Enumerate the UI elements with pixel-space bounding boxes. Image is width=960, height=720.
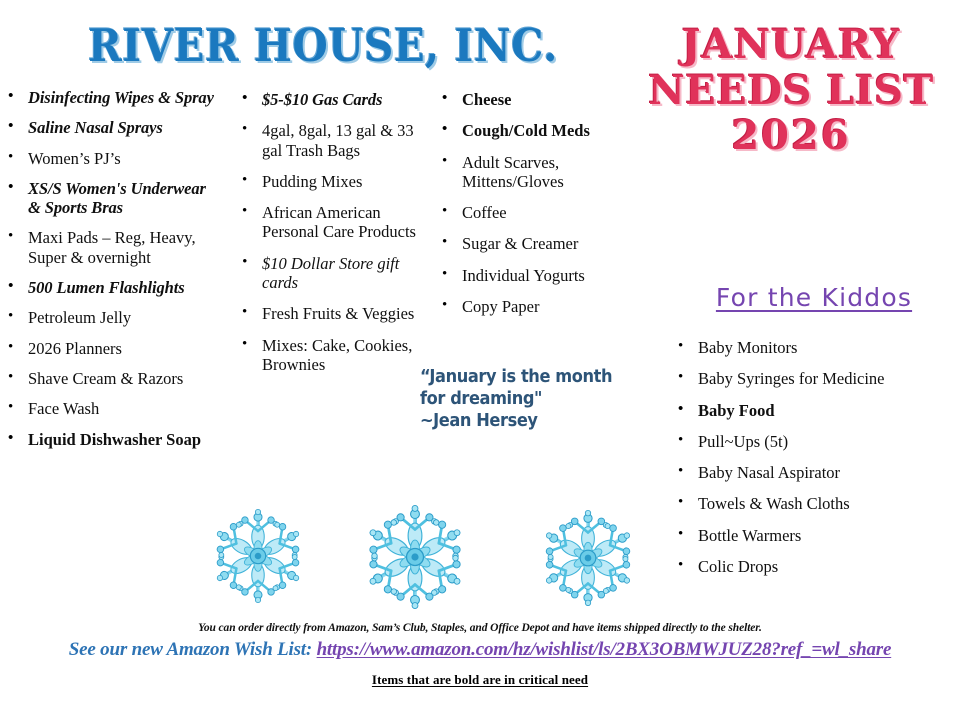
snowflake-icon-center [362,502,468,612]
wishlist-label: See our new Amazon Wish List: [69,639,312,660]
list-item: Cheese [438,90,623,109]
list-item: Pudding Mixes [236,172,421,191]
list-item: 500 Lumen Flashlights [6,278,222,297]
list-item: $10 Dollar Store gift cards [236,254,421,293]
needs-column-three: CheeseCough/Cold MedsAdult Scarves, Mitt… [438,90,623,328]
needs-list-three: CheeseCough/Cold MedsAdult Scarves, Mitt… [438,90,623,316]
list-item: Petroleum Jelly [6,308,222,327]
amazon-wishlist-link[interactable]: https://www.amazon.com/hz/wishlist/ls/2B… [317,639,892,660]
page-title-organization: River House, Inc. [28,22,618,69]
inspirational-quote: “January is the month for dreaming" ~Jea… [420,366,638,432]
needs-list-two: $5-$10 Gas Cards4gal, 8gal, 13 gal & 33 … [236,90,421,374]
list-item: Bottle Warmers [672,526,960,545]
list-item: Sugar & Creamer [438,234,623,253]
footer-wishlist-line: See our new Amazon Wish List: https://ww… [0,639,960,661]
list-item: Baby Nasal Aspirator [672,463,960,482]
snowflake-icon-right [539,508,637,608]
list-item: Face Wash [6,399,222,418]
list-item: $5-$10 Gas Cards [236,90,421,109]
list-item: Towels & Wash Cloths [672,494,960,513]
footer: You can order directly from Amazon, Sam’… [0,622,960,688]
needs-list-title-label: Needs List [622,68,960,114]
list-item: Copy Paper [438,297,623,316]
list-item: Mixes: Cake, Cookies, Brownies [236,336,421,375]
list-item: Colic Drops [672,557,960,576]
needs-list-one: Disinfecting Wipes & SpraySaline Nasal S… [6,88,222,449]
quote-line-2: for dreaming" [420,388,638,410]
list-item: Adult Scarves, Mittens/Gloves [438,153,623,192]
list-item: Disinfecting Wipes & Spray [6,88,222,107]
list-item: African American Personal Care Products [236,203,421,242]
footer-ordering-note: You can order directly from Amazon, Sam’… [0,622,960,634]
snowflake-icon-left [210,506,306,606]
needs-column-kiddos: Baby MonitorsBaby Syringes for MedicineB… [672,338,960,588]
list-item: Cough/Cold Meds [438,121,623,140]
list-item: 4gal, 8gal, 13 gal & 33 gal Trash Bags [236,121,421,160]
list-item: Baby Food [672,401,960,420]
needs-list-title-month: January [622,22,960,68]
list-item: XS/S Women's Underwear & Sports Bras [6,179,222,218]
page-title-needs-list: January Needs List 2026 [622,22,960,159]
section-header-for-the-kiddos: For the Kiddos [668,283,960,312]
quote-line-1: “January is the month [420,366,638,388]
list-item: Individual Yogurts [438,266,623,285]
list-item: Coffee [438,203,623,222]
needs-list-kiddos: Baby MonitorsBaby Syringes for MedicineB… [672,338,960,576]
list-item: Fresh Fruits & Veggies [236,304,421,323]
list-item: Baby Syringes for Medicine [672,369,960,388]
list-item: Women’s PJ’s [6,149,222,168]
list-item: Liquid Dishwasher Soap [6,430,222,449]
list-item: Pull~Ups (5t) [672,432,960,451]
list-item: Maxi Pads – Reg, Heavy, Super & overnigh… [6,228,222,267]
quote-attribution: ~Jean Hersey [420,410,638,432]
list-item: Saline Nasal Sprays [6,118,222,137]
needs-column-two: $5-$10 Gas Cards4gal, 8gal, 13 gal & 33 … [236,90,421,386]
footer-bold-note: Items that are bold are in critical need [0,672,960,688]
needs-column-one: Disinfecting Wipes & SpraySaline Nasal S… [6,88,222,460]
needs-list-title-year: 2026 [622,113,960,159]
list-item: Shave Cream & Razors [6,369,222,388]
list-item: 2026 Planners [6,339,222,358]
list-item: Baby Monitors [672,338,960,357]
